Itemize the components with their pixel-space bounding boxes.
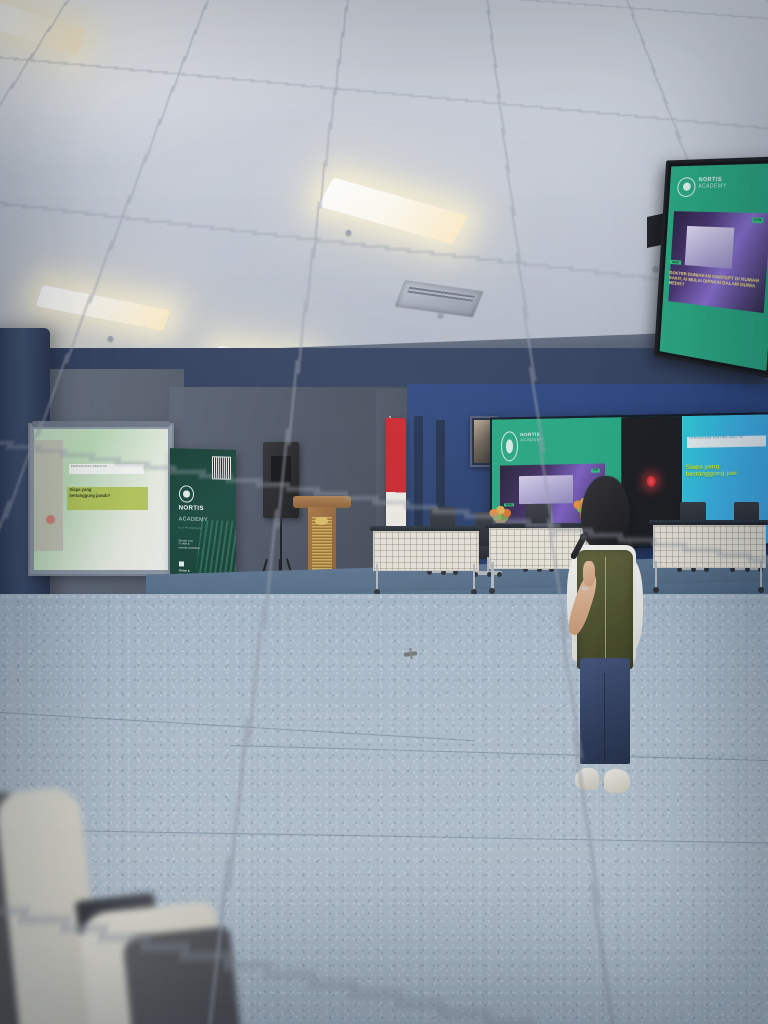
blue-jeans <box>580 658 631 765</box>
tv-tag: NEWS <box>670 260 681 265</box>
qr-code-icon <box>212 455 232 479</box>
hand-holding-microphone <box>583 561 595 586</box>
tv-brand-sub: ACADEMY <box>698 183 727 190</box>
tv-brand: NORTIS ACADEMY <box>698 177 727 190</box>
wristwatch-icon <box>582 587 588 590</box>
slide-question-line2: bertanggung jaw <box>686 470 768 479</box>
podium-ornament <box>312 517 332 573</box>
banner-body: Elevate your IT skills to industry stand… <box>179 538 211 549</box>
slide-brand-sub: ACADEMY <box>520 436 544 441</box>
panel-table <box>370 526 481 592</box>
slide-eyebrow-bar: PERTANYAAN PENTING <box>69 464 145 474</box>
banner-title: NORTIS <box>179 504 204 512</box>
presenter <box>548 476 656 789</box>
white-shoe <box>604 769 630 793</box>
banner-body-line3: industry standards <box>179 545 211 549</box>
slide-headline-line2: bertanggung jawab? <box>67 493 148 499</box>
panel-table <box>649 520 768 590</box>
banner-tagline: by GTN Indonesia <box>179 526 201 530</box>
white-shoe <box>575 768 599 790</box>
slide-eyebrow-text: PERTANYAAN PENTING <box>69 464 145 468</box>
banner-bullet-icon <box>179 561 184 566</box>
nortis-logo-icon <box>180 485 195 503</box>
projector-screen-roller <box>32 421 169 427</box>
slide-headline-block: Siapa yang bertanggung jawab? <box>67 487 148 510</box>
slide-eyebrow-text: PERTANYAAN PENTING HARI INI <box>687 435 766 440</box>
tv-screen: NORTIS ACADEMY GTN NEWS DOKTER DUNIAKAN … <box>660 163 768 371</box>
slide-badge: GTN <box>591 468 600 472</box>
tv-badge: GTN <box>752 217 764 223</box>
slide-side-band <box>34 440 64 550</box>
sprinkler-icon <box>108 336 113 341</box>
audience-seating-row <box>0 799 215 1024</box>
banner-subtitle: ACADEMY <box>179 516 208 523</box>
nortis-logo-icon <box>678 177 697 196</box>
tv-news-thumbnail: GTN <box>669 211 768 312</box>
projector-hotspot <box>46 515 55 524</box>
wall-mounted-tv: NORTIS ACADEMY GTN NEWS DOKTER DUNIAKAN … <box>654 156 768 379</box>
chair-frame <box>123 926 249 1024</box>
slide-eyebrow-bar: PERTANYAAN PENTING HARI INI <box>687 435 766 448</box>
hijab-icon <box>581 476 630 551</box>
slide-brand: NORTIS ACADEMY <box>520 431 544 441</box>
seminar-hall-photo: PERTANYAAN PENTING Siapa yang bertanggun… <box>0 0 768 1024</box>
slide-question-headline: Siapa yang bertanggung jaw <box>686 463 768 479</box>
nortis-logo-icon <box>501 431 518 462</box>
left-projection-screen: PERTANYAAN PENTING Siapa yang bertanggun… <box>28 423 175 577</box>
left-projection-image: PERTANYAAN PENTING Siapa yang bertanggun… <box>34 429 169 571</box>
